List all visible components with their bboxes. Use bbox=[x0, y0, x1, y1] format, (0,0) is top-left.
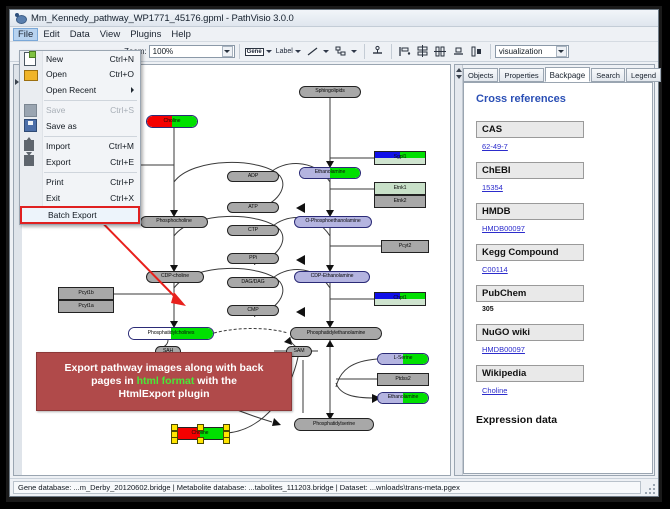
pathway-node-label: L-Serine bbox=[394, 356, 413, 361]
pathway-node-pcyt2[interactable]: Pcyt2 bbox=[381, 240, 429, 253]
window-title: Mm_Kennedy_pathway_WP1771_45176.gpml - P… bbox=[31, 13, 294, 24]
menu-item-accelerator: Ctrl+N bbox=[110, 54, 134, 64]
cross-reference-header: NuGO wiki bbox=[476, 324, 584, 341]
side-panel-tabs[interactable]: Objects Properties Backpage Search Legen… bbox=[463, 67, 653, 82]
pathway-node-label: Pcyt1a bbox=[78, 304, 93, 309]
zoom-combobox[interactable]: 100% bbox=[149, 45, 235, 58]
cross-reference-value: 305 bbox=[476, 302, 652, 320]
pathway-node-label: Ethanolamine bbox=[388, 395, 419, 400]
pathway-node-atp[interactable]: ATP bbox=[227, 202, 279, 213]
pathway-node-ppi[interactable]: PPi bbox=[227, 253, 279, 264]
status-bar: Gene database: ...m_Derby_20120602.bridg… bbox=[10, 478, 658, 496]
scroll-up-icon[interactable] bbox=[456, 68, 462, 72]
menu-item-print[interactable]: PrintCtrl+P bbox=[20, 175, 140, 191]
toolbar-separator bbox=[239, 44, 240, 59]
tab-search[interactable]: Search bbox=[591, 68, 625, 82]
menu-item-label: Export bbox=[46, 157, 110, 167]
cross-reference-value[interactable]: Choline bbox=[476, 382, 652, 402]
cross-reference-link[interactable]: HMDB00097 bbox=[482, 345, 525, 354]
pathway-node-pcyt1b[interactable]: Pcyt1b bbox=[58, 287, 114, 300]
menu-help[interactable]: Help bbox=[166, 28, 196, 41]
pathway-node-label: ATP bbox=[248, 205, 257, 210]
cross-reference-link[interactable]: 15354 bbox=[482, 183, 503, 192]
callout-line2-post: with the bbox=[194, 375, 237, 387]
pathway-node-label: Sphingolipids bbox=[315, 89, 345, 94]
menu-item-label: Open bbox=[46, 69, 109, 79]
callout-line2-highlight: html format bbox=[137, 375, 195, 387]
visualization-value: visualization bbox=[499, 47, 543, 56]
menu-item-accelerator: Ctrl+E bbox=[110, 157, 134, 167]
pathway-node-label: Choline bbox=[164, 119, 181, 124]
backpage-content[interactable]: Cross references CAS62-49-7ChEBI15354HMD… bbox=[463, 82, 653, 474]
interaction-dropdown-icon[interactable] bbox=[351, 50, 357, 53]
zoom-value: 100% bbox=[153, 47, 173, 56]
pathway-node-phosphatidylethanolamine[interactable]: Phosphatidylethanolamine bbox=[290, 327, 382, 340]
pathway-node-chpt1[interactable]: Chpt1 bbox=[374, 292, 426, 306]
status-text: Gene database: ...m_Derby_20120602.bridg… bbox=[13, 481, 641, 494]
datanode-dropdown-icon[interactable] bbox=[266, 50, 272, 53]
pathway-node-etnk1[interactable]: Etnk1 bbox=[374, 182, 426, 195]
menu-data[interactable]: Data bbox=[65, 28, 95, 41]
menu-item-label: Batch Export bbox=[48, 210, 132, 220]
interaction-icon[interactable] bbox=[333, 44, 349, 60]
menu-item-label: Save bbox=[46, 105, 110, 115]
menu-plugins[interactable]: Plugins bbox=[125, 28, 166, 41]
file-menu-popup[interactable]: NewCtrl+NOpenCtrl+OOpen RecentSaveCtrl+S… bbox=[19, 50, 141, 225]
pathway-node-label: Phosphocholine bbox=[156, 219, 192, 224]
import-icon bbox=[24, 140, 38, 153]
pathvisio-window: Mm_Kennedy_pathway_WP1771_45176.gpml - P… bbox=[9, 9, 659, 497]
pathway-node-phosphatidylserine[interactable]: Phosphatidylserine bbox=[294, 418, 374, 431]
pathway-node-label: Pcyt2 bbox=[399, 244, 411, 249]
cross-reference-link[interactable]: 62-49-7 bbox=[482, 142, 508, 151]
menu-item-batch-export[interactable]: Batch Export bbox=[20, 206, 140, 224]
menu-item-save[interactable]: SaveCtrl+S bbox=[20, 103, 140, 119]
pathway-node-label: Phosphatidylserine bbox=[313, 422, 355, 427]
selection-handle[interactable] bbox=[223, 437, 230, 444]
cross-reference-row: PubChem305 bbox=[476, 285, 652, 320]
pathway-node-etnk2[interactable]: Etnk2 bbox=[374, 195, 426, 208]
pathway-node-ethanolamine1[interactable]: Ethanolamine bbox=[299, 167, 361, 179]
pathway-node-label: Choline bbox=[192, 431, 209, 436]
pathway-node-cdpcholine[interactable]: CDP-choline bbox=[146, 271, 204, 283]
cross-reference-header: PubChem bbox=[476, 285, 584, 302]
cross-reference-header: Wikipedia bbox=[476, 365, 584, 382]
menu-item-accelerator: Ctrl+M bbox=[109, 141, 134, 151]
tab-objects[interactable]: Objects bbox=[463, 68, 498, 82]
menu-item-accelerator: Ctrl+P bbox=[110, 177, 134, 187]
side-panel-strip[interactable] bbox=[455, 65, 463, 475]
pathway-node-label: SAM bbox=[294, 349, 305, 354]
cross-reference-row: CAS62-49-7 bbox=[476, 121, 652, 158]
menu-item-open[interactable]: OpenCtrl+O bbox=[20, 67, 140, 83]
anchor-icon[interactable] bbox=[370, 44, 386, 60]
menu-item-accelerator: Ctrl+O bbox=[109, 69, 134, 79]
cross-reference-row: ChEBI15354 bbox=[476, 162, 652, 199]
pathway-node-label: Ethanolamine bbox=[315, 170, 346, 175]
menu-item-label: Open Recent bbox=[46, 85, 131, 95]
pathway-node-ctp[interactable]: CTP bbox=[227, 225, 279, 236]
expression-data-heading: Expression data bbox=[476, 406, 652, 426]
side-panel: Objects Properties Backpage Search Legen… bbox=[454, 64, 655, 476]
toolbar-separator-2 bbox=[364, 44, 365, 59]
align-stack-icon[interactable] bbox=[415, 44, 431, 60]
menu-separator bbox=[44, 100, 137, 101]
cross-reference-value[interactable]: 15354 bbox=[476, 179, 652, 199]
open-folder-icon bbox=[24, 68, 38, 81]
export-icon bbox=[24, 155, 38, 168]
datanode-button[interactable]: Gene bbox=[245, 44, 264, 60]
scroll-down-icon[interactable] bbox=[456, 75, 462, 79]
cross-reference-link[interactable]: C00114 bbox=[482, 265, 508, 274]
group-icon[interactable] bbox=[451, 44, 467, 60]
menu-bar[interactable]: File Edit Data View Plugins Help bbox=[10, 27, 658, 42]
pathway-node-label: DAG/DAG bbox=[241, 280, 264, 285]
toolbar-separator-4 bbox=[490, 44, 491, 59]
cross-reference-value[interactable]: HMDB00097 bbox=[476, 220, 652, 240]
cross-reference-list: CAS62-49-7ChEBI15354HMDBHMDB00097Kegg Co… bbox=[476, 121, 652, 402]
pathway-node-phosphatidylcholines[interactable]: Phosphatidylcholines bbox=[128, 327, 214, 340]
cross-reference-row: WikipediaCholine bbox=[476, 365, 652, 402]
distribute-icon[interactable] bbox=[433, 44, 449, 60]
pathway-node-label: Etnk1 bbox=[394, 186, 407, 191]
pathway-node-adp[interactable]: ADP bbox=[227, 171, 279, 182]
pathway-node-label: Phosphatidylethanolamine bbox=[307, 331, 365, 336]
cross-references-title: Cross references bbox=[476, 93, 652, 105]
pathway-node-cmp[interactable]: CMP bbox=[227, 305, 279, 316]
menu-item-label: New bbox=[46, 54, 110, 64]
label-button[interactable]: Label bbox=[276, 44, 293, 60]
tab-properties[interactable]: Properties bbox=[499, 68, 543, 82]
pathway-node-label: Phosphatidylcholines bbox=[148, 331, 195, 336]
pathway-node-pcyt1a[interactable]: Pcyt1a bbox=[58, 300, 114, 313]
menu-item-export[interactable]: ExportCtrl+E bbox=[20, 154, 140, 170]
cross-reference-header: Kegg Compound bbox=[476, 244, 584, 261]
cross-reference-header: ChEBI bbox=[476, 162, 584, 179]
pathvisio-app-icon bbox=[15, 12, 27, 24]
menu-item-accelerator: Ctrl+S bbox=[110, 105, 134, 115]
pathway-node-label: O-Phosphoethanolamine bbox=[305, 219, 360, 224]
menu-item-open-recent[interactable]: Open Recent bbox=[20, 82, 140, 98]
callout-line2-pre: pages in bbox=[91, 375, 137, 387]
pathway-node-label: CDP-Ethanolamine bbox=[311, 274, 354, 279]
align-left-icon[interactable] bbox=[397, 44, 413, 60]
pathway-node-label: ADP bbox=[248, 174, 258, 179]
new-file-icon bbox=[24, 52, 38, 65]
pathway-node-dagdag[interactable]: DAG/DAG bbox=[227, 277, 279, 288]
selection-handle[interactable] bbox=[171, 437, 178, 444]
cross-reference-value[interactable]: 62-49-7 bbox=[476, 138, 652, 158]
title-bar: Mm_Kennedy_pathway_WP1771_45176.gpml - P… bbox=[10, 10, 658, 27]
cross-reference-header: CAS bbox=[476, 121, 584, 138]
save-disk-icon bbox=[24, 104, 38, 117]
cross-reference-row: HMDBHMDB00097 bbox=[476, 203, 652, 240]
menu-separator bbox=[44, 172, 137, 173]
chevron-down-icon[interactable] bbox=[222, 46, 233, 57]
pathway-node-label: Chpt1 bbox=[393, 296, 406, 301]
pathway-node-ethanolamine2[interactable]: Ethanolamine bbox=[377, 392, 429, 404]
menu-item-accelerator: Ctrl+X bbox=[110, 193, 134, 203]
pathway-node-label: Pcyt1b bbox=[78, 291, 93, 296]
pathway-node-cdpethanolamine[interactable]: CDP-Ethanolamine bbox=[294, 271, 370, 283]
line-icon[interactable] bbox=[305, 44, 321, 60]
cross-reference-link[interactable]: HMDB00097 bbox=[482, 224, 525, 233]
menu-item-label: Print bbox=[46, 177, 110, 187]
chevron-down-icon-2[interactable] bbox=[556, 46, 567, 57]
save-as-icon bbox=[24, 119, 38, 132]
tab-backpage[interactable]: Backpage bbox=[545, 67, 591, 82]
cross-reference-row: Kegg CompoundC00114 bbox=[476, 244, 652, 281]
pathway-node-choline[interactable]: Choline bbox=[146, 115, 198, 128]
pathway-node-ophosphoethanolamine[interactable]: O-Phosphoethanolamine bbox=[294, 216, 372, 228]
annotation-callout: Export pathway images along with back pa… bbox=[36, 352, 292, 411]
menu-file[interactable]: File bbox=[13, 28, 38, 41]
pathway-node-label: Sgpl1 bbox=[394, 155, 407, 160]
menu-item-label: Save as bbox=[46, 121, 134, 131]
menu-item-import[interactable]: ImportCtrl+M bbox=[20, 139, 140, 155]
menu-item-new[interactable]: NewCtrl+N bbox=[20, 51, 140, 67]
cross-reference-header: HMDB bbox=[476, 203, 584, 220]
menu-item-label: Exit bbox=[46, 193, 110, 203]
menu-item-exit[interactable]: ExitCtrl+X bbox=[20, 190, 140, 206]
pathway-node-label: PPi bbox=[249, 256, 257, 261]
menu-item-save-as[interactable]: Save as bbox=[20, 118, 140, 134]
label-dropdown-icon[interactable] bbox=[295, 50, 301, 53]
pathway-node-label: CMP bbox=[247, 308, 258, 313]
pathway-node-label: CDP-choline bbox=[161, 274, 189, 279]
cross-reference-value[interactable]: HMDB00097 bbox=[476, 341, 652, 361]
pathway-node-ptdss2[interactable]: Ptdss2 bbox=[377, 373, 429, 386]
line-dropdown-icon[interactable] bbox=[323, 50, 329, 53]
selection-handle[interactable] bbox=[197, 437, 204, 444]
pathway-node-phosphocholine[interactable]: Phosphocholine bbox=[140, 216, 208, 228]
tab-legend[interactable]: Legend bbox=[626, 68, 661, 82]
visualization-combobox[interactable]: visualization bbox=[495, 45, 569, 58]
order-icon[interactable] bbox=[469, 44, 485, 60]
resize-grip-icon[interactable] bbox=[643, 482, 655, 494]
menu-item-label: Import bbox=[46, 141, 109, 151]
callout-line1: Export pathway images along with back bbox=[65, 362, 264, 374]
pathway-node-sphingolipids[interactable]: Sphingolipids bbox=[299, 86, 361, 98]
menu-view[interactable]: View bbox=[95, 28, 125, 41]
toolbar-separator-3 bbox=[391, 44, 392, 59]
cross-reference-link[interactable]: Choline bbox=[482, 386, 507, 395]
selection-handle[interactable] bbox=[197, 424, 204, 431]
pathway-node-label: CTP bbox=[248, 228, 258, 233]
pathway-node-label: Ptdss2 bbox=[395, 377, 410, 382]
pathway-node-lserine[interactable]: L-Serine bbox=[377, 353, 429, 365]
menu-separator bbox=[44, 136, 137, 137]
cross-reference-row: NuGO wikiHMDB00097 bbox=[476, 324, 652, 361]
submenu-arrow-icon bbox=[131, 87, 134, 93]
callout-line3: HtmlExport plugin bbox=[119, 388, 210, 400]
pathway-node-label: Etnk2 bbox=[394, 199, 407, 204]
pathway-node-sgpl1[interactable]: Sgpl1 bbox=[374, 151, 426, 165]
screenshot-root: Mm_Kennedy_pathway_WP1771_45176.gpml - P… bbox=[0, 0, 670, 509]
menu-edit[interactable]: Edit bbox=[38, 28, 64, 41]
cross-reference-value[interactable]: C00114 bbox=[476, 261, 652, 281]
callout-text: Export pathway images along with back pa… bbox=[59, 362, 270, 401]
